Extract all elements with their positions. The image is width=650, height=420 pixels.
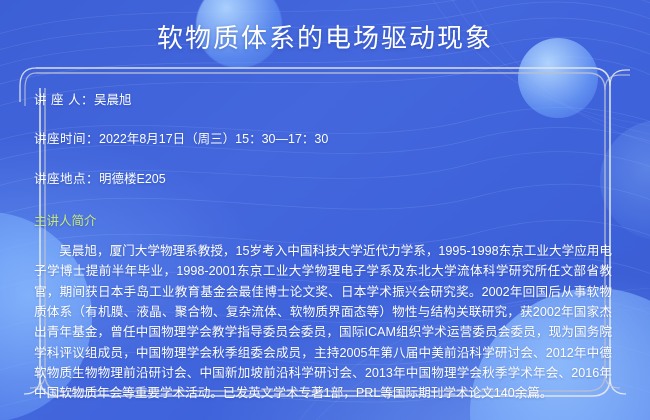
section-heading-speaker-bio: 主讲人简介 (34, 210, 618, 229)
time-row: 讲座时间：2022年8月17日（周三）15：30—17：30 (34, 131, 618, 147)
speaker-value: 吴晨旭 (94, 93, 132, 107)
place-row: 讲座地点：明德楼E205 (34, 171, 618, 187)
time-label: 讲座时间： (34, 132, 99, 146)
speaker-bio-text: 吴晨旭，厦门大学物理系教授，15岁考入中国科技大学近代力学系，1995-1998… (34, 241, 612, 404)
poster-content: 讲 座 人：吴晨旭 讲座时间：2022年8月17日（周三）15：30—17：30… (34, 92, 618, 404)
speaker-label: 讲 座 人： (34, 93, 94, 107)
time-value: 2022年8月17日（周三）15：30—17：30 (99, 132, 328, 146)
speaker-row: 讲 座 人：吴晨旭 (34, 92, 618, 108)
page-title: 软物质体系的电场驱动现象 (0, 18, 650, 55)
lecture-poster: 软物质体系的电场驱动现象 讲 座 人：吴晨旭 讲座时间：2022年8月17日（周… (0, 0, 650, 420)
place-value: 明德楼E205 (99, 172, 166, 186)
place-label: 讲座地点： (34, 172, 99, 186)
